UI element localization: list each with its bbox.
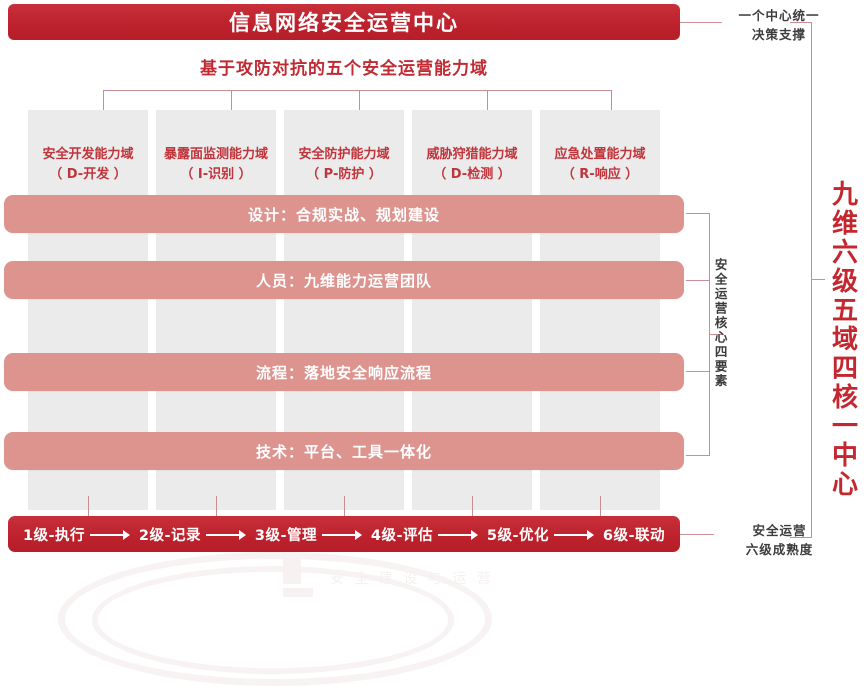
- main-banner: 信息网络安全运营中心: [8, 4, 680, 40]
- maturity-tick-5: [600, 496, 601, 516]
- core-four-bracket-arm-4: [686, 455, 710, 456]
- maturity-step-2[interactable]: 2级-记录: [139, 524, 201, 545]
- tree-drop-1: [103, 90, 104, 110]
- watermark-text: 安 全 建 设 与 运 营: [330, 568, 494, 588]
- maturity-lead-line: [680, 534, 714, 535]
- arrow-right-icon-3: [322, 528, 366, 540]
- core-four-bracket: [686, 213, 710, 456]
- arrow-right-icon-1: [90, 528, 134, 540]
- maturity-note-line1: 安全运营: [722, 521, 837, 540]
- tree-horizontal-bar: [103, 90, 611, 91]
- maturity-note-line2: 六级成熟度: [722, 540, 837, 559]
- maturity-bar: 1级-执行 2级-记录 3级-管理 4级-评估 5级-优化 6级-联动: [8, 516, 680, 552]
- maturity-note: 安全运营 六级成熟度: [722, 521, 837, 560]
- maturity-tick-group: [28, 496, 668, 516]
- subtitle: 基于攻防对抗的五个安全运营能力域: [8, 54, 680, 79]
- center-note-line2: 决策支撑: [724, 25, 834, 44]
- maturity-tick-3: [344, 496, 345, 516]
- core-four-bracket-arm-1: [686, 213, 710, 214]
- core-element-label-people: 人员：九维能力运营团队: [256, 270, 432, 291]
- overall-bracket-nose: [811, 279, 825, 280]
- overall-bracket: [790, 22, 812, 538]
- maturity-step-5[interactable]: 5级-优化: [487, 524, 549, 545]
- core-four-elements-label: 安全运营核心四要素: [712, 258, 728, 418]
- core-element-label-design: 设计：合规实战、规划建设: [248, 204, 440, 225]
- tree-drop-2: [231, 90, 232, 110]
- tree-drop-4: [487, 90, 488, 110]
- arrow-right-icon-2: [206, 528, 250, 540]
- center-note: 一个中心统一 决策支撑: [724, 6, 834, 45]
- overall-bracket-cap-top: [790, 22, 812, 23]
- core-four-bracket-arm-3: [686, 371, 710, 372]
- tree-drop-5: [611, 90, 612, 110]
- overall-bracket-spine: [811, 22, 812, 538]
- domain-connector-tree: [28, 90, 668, 112]
- core-four-bracket-arm-2: [686, 280, 710, 281]
- banner-title: 信息网络安全运营中心: [229, 7, 459, 37]
- watermark-mark: [283, 558, 301, 584]
- infographic-canvas: 安 全 建 设 与 运 营 信息网络安全运营中心 一个中心统一 决策支撑 基于攻…: [0, 0, 865, 598]
- center-note-line1: 一个中心统一: [724, 6, 834, 25]
- watermark-mark-2: [283, 588, 313, 597]
- maturity-tick-2: [216, 496, 217, 516]
- core-element-label-technology: 技术：平台、工具一体化: [256, 441, 432, 462]
- maturity-tick-1: [88, 496, 89, 516]
- tree-drop-3: [359, 90, 360, 110]
- overall-bracket-cap-bottom: [790, 537, 812, 538]
- overall-title: 九维六级五域四核一中心: [826, 180, 859, 536]
- arrow-right-icon-4: [438, 528, 482, 540]
- core-element-label-process: 流程：落地安全响应流程: [256, 362, 432, 383]
- maturity-tick-4: [472, 496, 473, 516]
- maturity-step-4[interactable]: 4级-评估: [371, 524, 433, 545]
- arrow-right-icon-5: [554, 528, 598, 540]
- core-element-bar-process[interactable]: 流程：落地安全响应流程: [4, 353, 684, 391]
- core-element-bar-people[interactable]: 人员：九维能力运营团队: [4, 261, 684, 299]
- maturity-step-1[interactable]: 1级-执行: [23, 524, 85, 545]
- maturity-step-3[interactable]: 3级-管理: [255, 524, 317, 545]
- banner-lead-line: [680, 22, 722, 23]
- core-element-bar-design[interactable]: 设计：合规实战、规划建设: [4, 195, 684, 233]
- maturity-step-6[interactable]: 6级-联动: [603, 524, 665, 545]
- core-element-bar-technology[interactable]: 技术：平台、工具一体化: [4, 432, 684, 470]
